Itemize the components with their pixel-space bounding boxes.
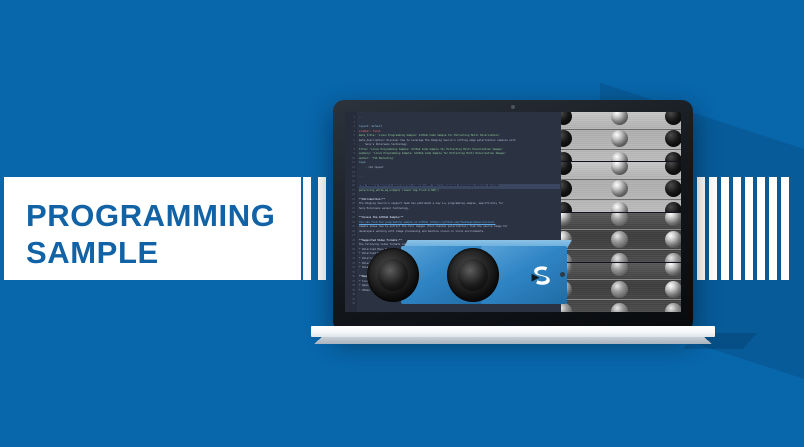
laptop-base-edge — [314, 337, 711, 344]
weld-seam — [561, 299, 681, 301]
bolt-dome — [611, 202, 628, 212]
bolt-dome — [665, 162, 681, 175]
laptop-illustration: 1234567891011121314151617181920212223242… — [333, 100, 693, 332]
decor-stripe-5 — [745, 177, 753, 280]
metal-plate-texture — [561, 162, 681, 211]
bolt-dome — [611, 162, 628, 175]
laptop-lid: 1234567891011121314151617181920212223242… — [333, 100, 693, 332]
bolt-dome — [665, 281, 681, 298]
metal-plate-texture — [561, 213, 681, 262]
bolt-dome — [665, 152, 681, 162]
decor-stripe-4 — [733, 177, 741, 280]
bolt-dome — [665, 263, 681, 276]
bolt-dome — [665, 112, 681, 125]
bolt-dome — [561, 180, 572, 197]
decor-stripe-3 — [721, 177, 729, 280]
camera-product-overlay — [367, 234, 572, 312]
webcam-icon — [511, 105, 515, 109]
camera-screw — [560, 272, 565, 277]
bolt-dome — [665, 303, 681, 312]
bolt-dome — [665, 253, 681, 263]
bolt-dome — [611, 152, 628, 162]
page-title-line-2: SAMPLE — [26, 237, 159, 268]
bolt-dome — [611, 130, 628, 147]
polarization-sample-bright-1 — [561, 112, 681, 162]
decor-stripe-2 — [318, 177, 326, 280]
decor-stripe-2 — [709, 177, 717, 280]
promo-banner-stage: 1234567891011121314151617181920212223242… — [0, 0, 804, 447]
editor-line-number-gutter: 1234567891011121314151617181920212223242… — [345, 112, 357, 312]
polarization-sample-dark-2 — [561, 263, 681, 312]
bolt-dome — [561, 130, 572, 147]
line-number: 42 — [345, 302, 357, 307]
metal-plate-texture — [561, 112, 681, 161]
bolt-dome — [611, 303, 628, 312]
bolt-dome — [665, 231, 681, 248]
polarization-sample-bright-2 — [561, 162, 681, 212]
laptop-base — [311, 326, 715, 337]
bolt-dome — [665, 180, 681, 197]
bolt-dome — [561, 162, 572, 175]
laptop-screen: 1234567891011121314151617181920212223242… — [345, 112, 681, 312]
weld-seam — [561, 249, 681, 251]
bolt-dome — [561, 202, 572, 212]
the-imaging-source-logo-icon — [529, 262, 555, 288]
bolt-dome — [665, 213, 681, 226]
decor-stripes-right — [697, 177, 793, 280]
bolt-dome — [561, 152, 572, 162]
decor-stripe-1 — [303, 177, 311, 280]
bolt-dome — [561, 112, 572, 125]
bolt-dome — [611, 281, 628, 298]
camera-front — [447, 240, 567, 312]
polarization-sample-dark-1 — [561, 213, 681, 263]
decor-stripe-1 — [697, 177, 705, 280]
decor-stripe-6 — [757, 177, 765, 280]
decor-stripe-7 — [769, 177, 777, 280]
bolt-dome — [611, 180, 628, 197]
bolt-dome — [561, 213, 572, 226]
metal-plate-texture — [561, 263, 681, 312]
page-title-line-1: PROGRAMMING — [26, 200, 275, 231]
bolt-dome — [665, 130, 681, 147]
title-banner: PROGRAMMING SAMPLE — [4, 177, 301, 280]
polarization-image-pane[interactable] — [561, 112, 681, 312]
bolt-dome — [611, 231, 628, 248]
decor-stripe-8 — [781, 177, 789, 280]
bolt-dome — [611, 213, 628, 226]
bolt-dome — [611, 253, 628, 263]
bolt-dome — [665, 202, 681, 212]
camera-lens — [447, 248, 499, 302]
weld-seam — [561, 198, 681, 200]
camera-lens — [367, 248, 419, 302]
bolt-dome — [611, 112, 628, 125]
bolt-dome — [611, 263, 628, 276]
weld-seam — [561, 148, 681, 150]
